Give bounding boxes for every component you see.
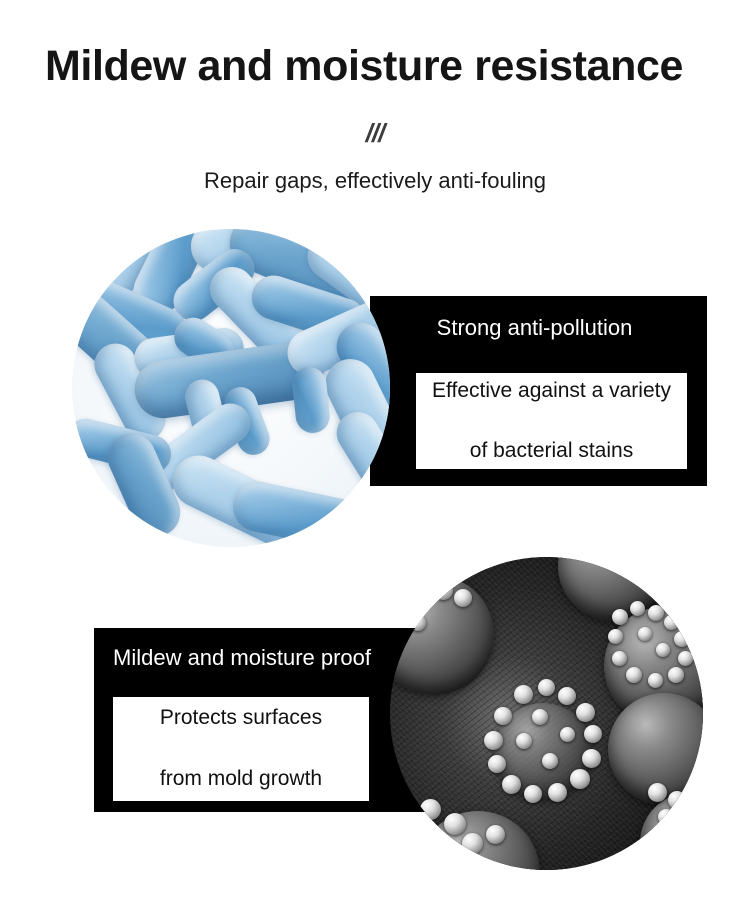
panel-body-text-anti-pollution: Effective against a varietyof bacterial … bbox=[420, 376, 683, 465]
page-title: Mildew and moisture resistance bbox=[45, 42, 683, 90]
feature-panel-mildew-proof: Mildew and moisture proof Protects surfa… bbox=[94, 628, 430, 812]
feature-panel-anti-pollution: Strong anti-pollution Effective against … bbox=[370, 296, 707, 486]
panel-body-box-mildew-proof: Protects surfacesfrom mold growth bbox=[113, 697, 369, 801]
mold-spore-microscope-photo bbox=[390, 557, 703, 870]
panel-body-line2-anti-pollution: of bacterial stains bbox=[426, 436, 677, 466]
panel-body-text-mildew-proof: Protects surfacesfrom mold growth bbox=[160, 703, 322, 794]
panel-heading-anti-pollution: Strong anti-pollution bbox=[370, 315, 699, 341]
slash-divider: /// bbox=[0, 118, 750, 149]
panel-heading-mildew-proof: Mildew and moisture proof bbox=[113, 645, 371, 671]
blue-rod-bacteria-photo bbox=[72, 229, 390, 547]
panel-body-line1-mildew-proof: Protects surfaces bbox=[160, 703, 322, 733]
panel-body-line2-mildew-proof: from mold growth bbox=[160, 764, 322, 794]
panel-body-line1-anti-pollution: Effective against a variety bbox=[426, 376, 677, 406]
panel-body-box-anti-pollution: Effective against a varietyof bacterial … bbox=[416, 373, 687, 469]
page-subtitle: Repair gaps, effectively anti-fouling bbox=[0, 168, 750, 194]
